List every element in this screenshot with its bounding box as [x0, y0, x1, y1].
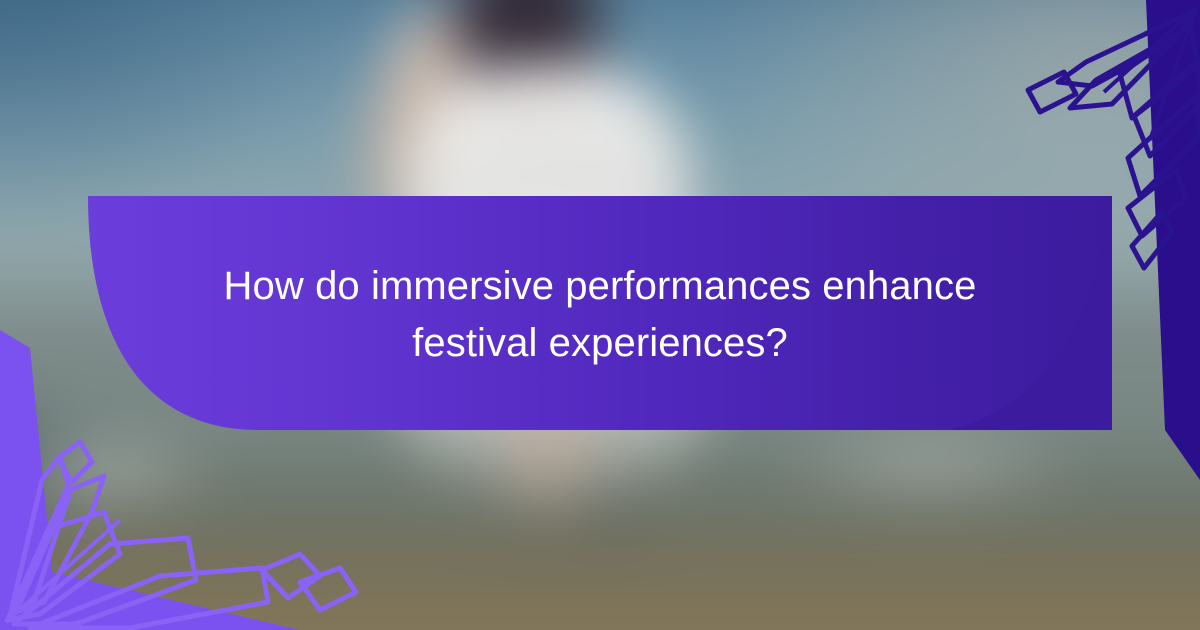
photo-rock [577, 498, 653, 553]
headline-text: How do immersive performances enhance fe… [220, 254, 980, 372]
headline-line-2: festival experiences? [412, 321, 788, 365]
headline-line-1: How do immersive performances enhance [224, 264, 977, 308]
headline-banner: How do immersive performances enhance fe… [88, 196, 1112, 430]
photo-sea-foam-right [770, 416, 1088, 511]
photo-rock-small [507, 524, 566, 562]
social-card: How do immersive performances enhance fe… [0, 0, 1200, 630]
